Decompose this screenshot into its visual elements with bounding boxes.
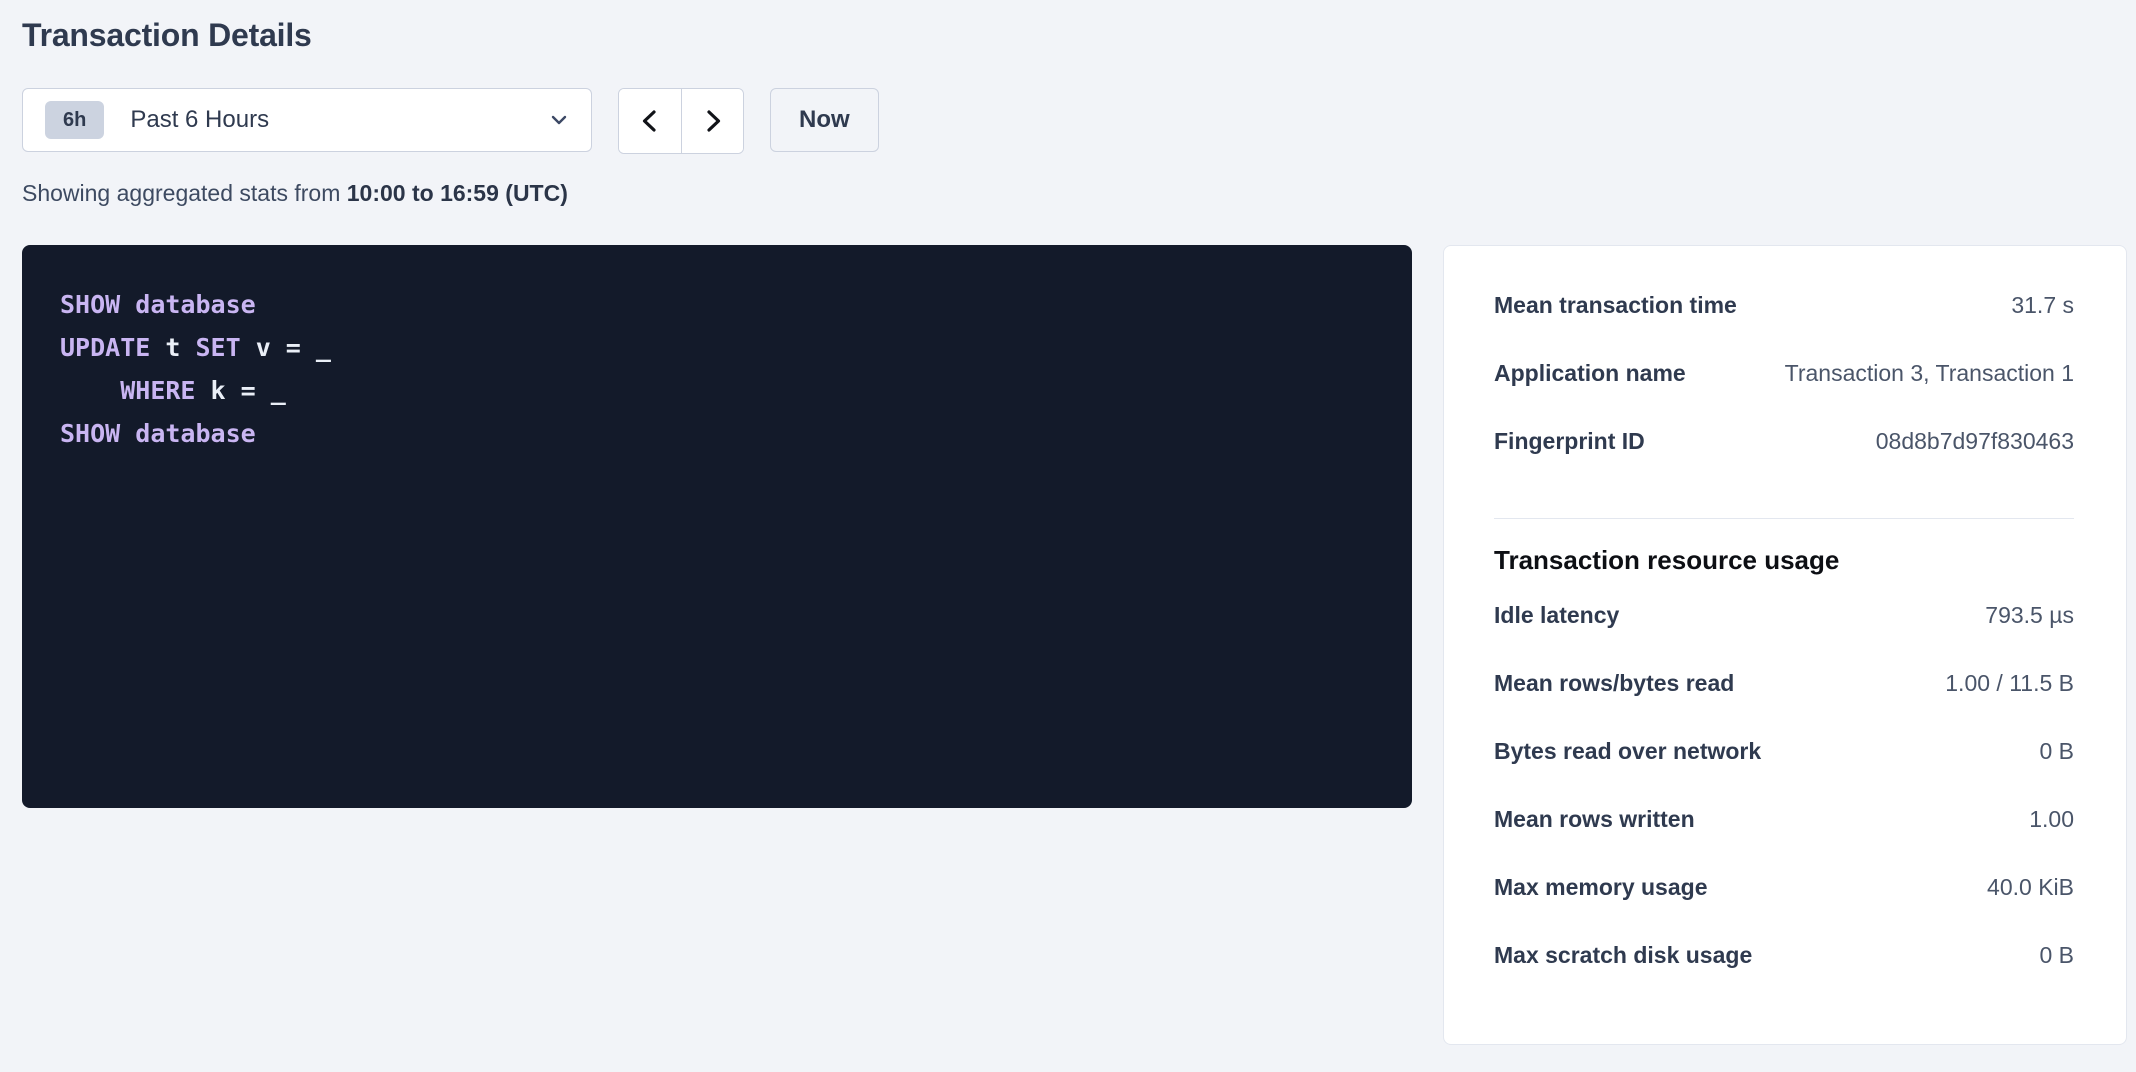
stat-value: 0 B: [2023, 738, 2074, 765]
chevron-down-icon: [549, 110, 569, 130]
stat-label: Mean rows written: [1494, 806, 1695, 833]
resource-stats-list: Idle latency793.5 µsMean rows/bytes read…: [1494, 602, 2074, 1010]
aggregation-caption: Showing aggregated stats from 10:00 to 1…: [22, 180, 568, 207]
resource-stat-row: Max scratch disk usage0 B: [1494, 942, 2074, 1010]
sql-token: [180, 333, 195, 362]
stat-label: Idle latency: [1494, 602, 1619, 629]
stat-value: 793.5 µs: [1969, 602, 2074, 629]
sql-token: t: [165, 333, 180, 362]
previous-period-button[interactable]: [619, 89, 681, 153]
time-range-toolbar: 6h Past 6 Hours: [22, 88, 879, 154]
sql-keyword: database: [135, 290, 255, 319]
stat-value: 1.00 / 11.5 B: [1929, 670, 2074, 697]
resource-stat-row: Bytes read over network0 B: [1494, 738, 2074, 806]
transaction-details-page: Transaction Details 6h Past 6 Hours: [0, 0, 2136, 1072]
stat-label: Mean rows/bytes read: [1494, 670, 1734, 697]
sql-token: k = _: [195, 376, 285, 405]
resource-stat-row: Idle latency793.5 µs: [1494, 602, 2074, 670]
stat-label: Bytes read over network: [1494, 738, 1761, 765]
stat-label: Application name: [1494, 360, 1686, 387]
stat-label: Fingerprint ID: [1494, 428, 1645, 455]
caption-prefix: Showing aggregated stats from: [22, 180, 347, 206]
resource-stat-row: Max memory usage40.0 KiB: [1494, 874, 2074, 942]
stats-divider: [1494, 518, 2074, 519]
stat-value: 40.0 KiB: [1971, 874, 2074, 901]
sql-token: [120, 290, 135, 319]
sql-keyword: SHOW: [60, 419, 120, 448]
sql-token: [120, 419, 135, 448]
sql-keyword: SHOW: [60, 290, 120, 319]
stat-value: 0 B: [2023, 942, 2074, 969]
summary-stats-list: Mean transaction time31.7 sApplication n…: [1494, 292, 2074, 496]
summary-stat-row: Mean transaction time31.7 s: [1494, 292, 2074, 360]
stat-value: 08d8b7d97f830463: [1860, 428, 2074, 455]
sql-keyword: database: [135, 419, 255, 448]
time-range-label: Past 6 Hours: [130, 106, 549, 134]
summary-stat-row: Application nameTransaction 3, Transacti…: [1494, 360, 2074, 428]
next-period-button[interactable]: [681, 89, 743, 153]
time-nav-group: [618, 88, 744, 154]
caption-range: 10:00 to 16:59 (UTC): [347, 180, 568, 206]
stat-label: Max scratch disk usage: [1494, 942, 1752, 969]
page-title: Transaction Details: [22, 17, 312, 54]
resource-stat-row: Mean rows written1.00: [1494, 806, 2074, 874]
stat-label: Mean transaction time: [1494, 292, 1737, 319]
summary-stat-row: Fingerprint ID08d8b7d97f830463: [1494, 428, 2074, 496]
time-range-badge: 6h: [45, 101, 104, 139]
transaction-stats-card: Mean transaction time31.7 sApplication n…: [1443, 245, 2127, 1045]
resource-stat-row: Mean rows/bytes read1.00 / 11.5 B: [1494, 670, 2074, 738]
sql-keyword: SET: [196, 333, 241, 362]
sql-keyword: UPDATE: [60, 333, 150, 362]
stat-value: Transaction 3, Transaction 1: [1769, 360, 2074, 387]
stat-value: 1.00: [2013, 806, 2074, 833]
time-range-select[interactable]: 6h Past 6 Hours: [22, 88, 592, 152]
chevron-left-icon: [637, 108, 663, 134]
sql-token: v = _: [241, 333, 331, 362]
sql-token: [60, 376, 120, 405]
sql-token: [150, 333, 165, 362]
resource-usage-heading: Transaction resource usage: [1494, 545, 2074, 576]
stat-label: Max memory usage: [1494, 874, 1707, 901]
sql-keyword: WHERE: [120, 376, 195, 405]
now-button[interactable]: Now: [770, 88, 879, 152]
stat-value: 31.7 s: [1995, 292, 2074, 319]
chevron-right-icon: [700, 108, 726, 134]
sql-statement-text: SHOW database UPDATE t SET v = _ WHERE k…: [60, 283, 1412, 455]
sql-statement-panel[interactable]: SHOW database UPDATE t SET v = _ WHERE k…: [22, 245, 1412, 808]
